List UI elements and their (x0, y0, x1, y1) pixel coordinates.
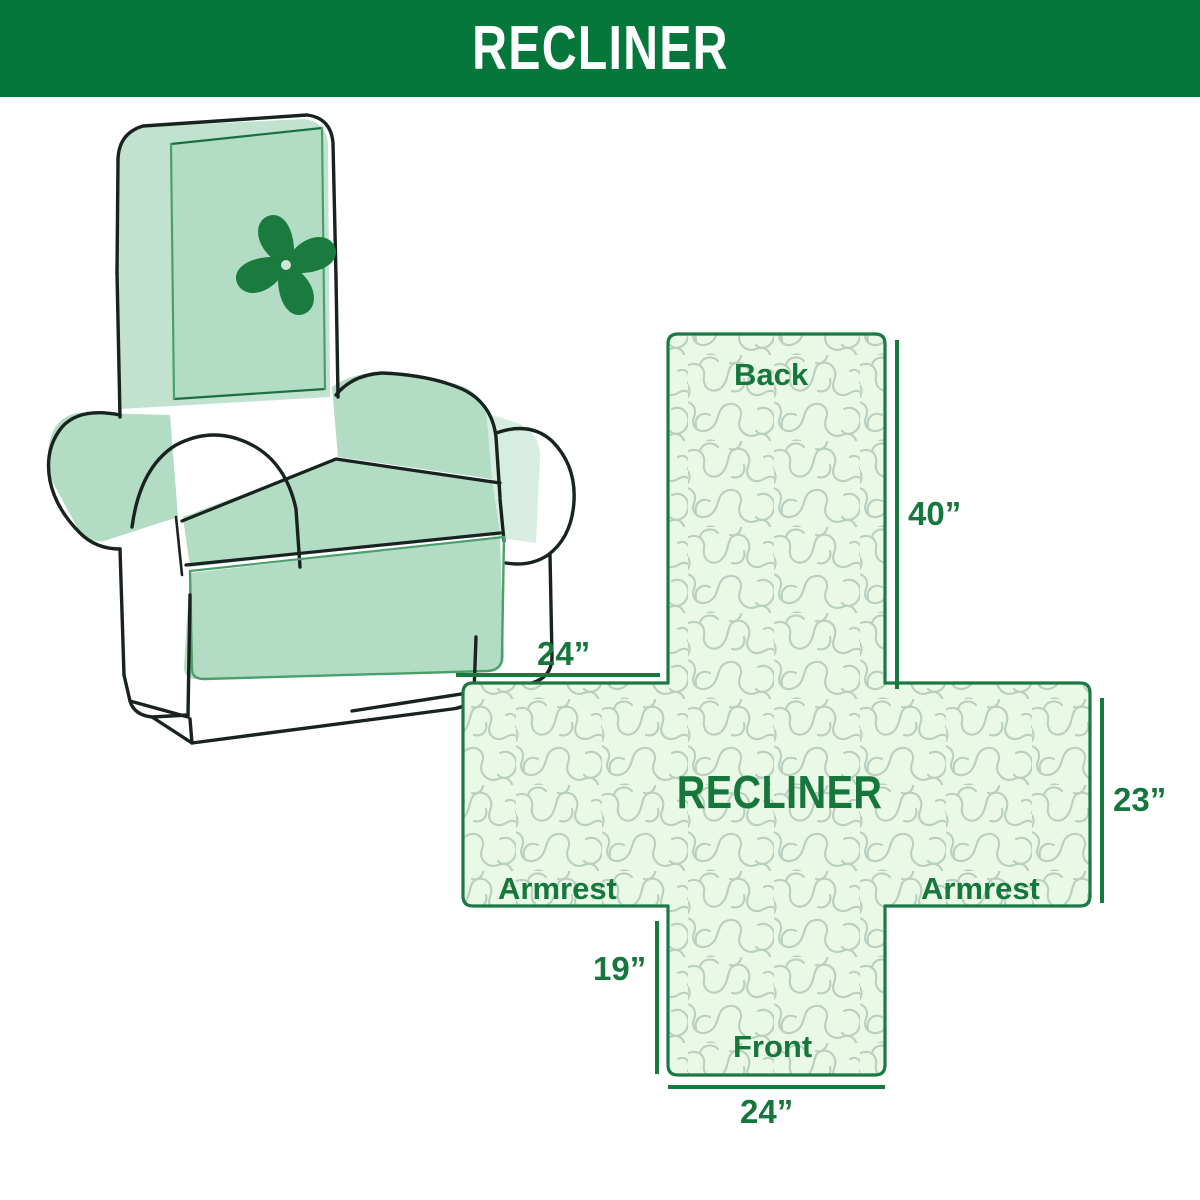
page-title: RECLINER (472, 18, 729, 80)
diagram-canvas: Back RECLINER Armrest Armrest Front 40” … (0, 97, 1200, 1200)
panel-label-front: Front (733, 1031, 812, 1062)
dimension-value-front-height: 19” (593, 952, 646, 985)
cover-pattern-shape (0, 97, 1200, 1200)
dimension-value-seat-depth: 23” (1113, 783, 1166, 816)
dimension-value-back-height: 40” (908, 497, 961, 530)
panel-label-back: Back (734, 359, 808, 390)
panel-label-center: RECLINER (677, 769, 883, 815)
panel-label-armrest-right: Armrest (921, 873, 1040, 904)
panel-label-armrest-left: Armrest (498, 873, 617, 904)
cross-shape-outline (463, 334, 1090, 1075)
dimension-value-armrest-width: 24” (537, 637, 590, 670)
header-band: RECLINER (0, 0, 1200, 97)
dimension-value-front-width: 24” (740, 1095, 793, 1128)
